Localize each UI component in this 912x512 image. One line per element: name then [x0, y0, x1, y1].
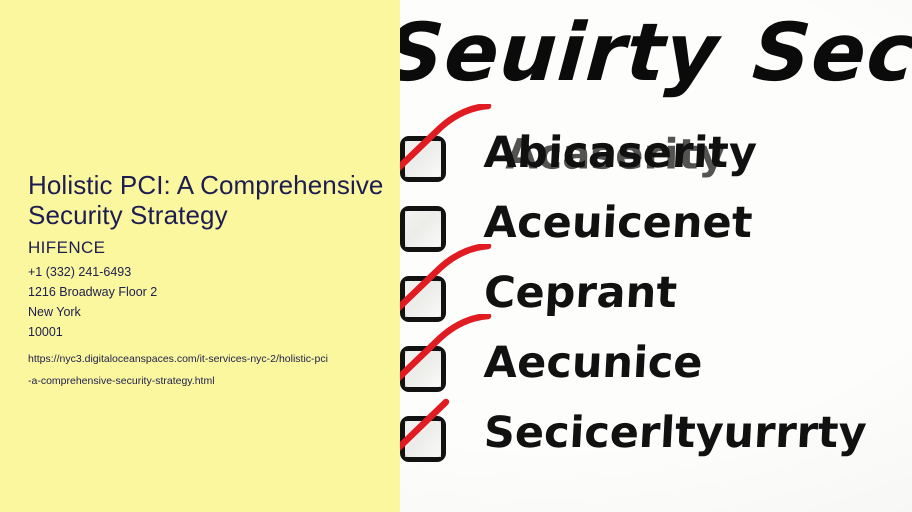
info-panel-content: Holistic PCI: A Comprehensive Security S… — [28, 170, 386, 392]
brand-name: HIFENCE — [28, 238, 386, 258]
source-url-line-1: https://nyc3.digitaloceanspaces.com/it-s… — [28, 348, 386, 370]
source-url-line-2: -a-comprehensive-security-strategy.html — [28, 370, 386, 392]
checkbox-fill — [405, 141, 441, 177]
info-panel: Holistic PCI: A Comprehensive Security S… — [0, 0, 400, 512]
address-zip: 10001 — [28, 322, 386, 342]
checkbox-2[interactable] — [400, 206, 446, 252]
checklist-label-4: Aecunice — [483, 338, 704, 388]
checkbox-fill — [405, 351, 441, 387]
checklist: Abicaserity Acaserity Aceuicenet — [398, 128, 912, 478]
checklist-label-3: Ceprant — [483, 268, 679, 318]
heading-word-2: Secity — [750, 6, 912, 99]
label-text: Aecunice — [483, 338, 704, 388]
heading-word-1: Seuirty — [383, 6, 723, 99]
phone-number: +1 (332) 241-6493 — [28, 262, 386, 282]
checklist-item[interactable]: Abicaserity Acaserity — [398, 128, 912, 198]
address-city: New York — [28, 302, 386, 322]
checklist-item[interactable]: Aecunice — [398, 338, 912, 408]
checklist-label-1: Abicaserity Acaserity — [483, 128, 758, 178]
label-text: Secicerltyurrrty — [483, 408, 868, 458]
checklist-label-2: Aceuicenet — [483, 198, 754, 248]
checklist-item[interactable]: Secicerltyurrrty — [398, 408, 912, 478]
page-root: SeuirtySecity Abicaserity Acaserity — [0, 0, 912, 512]
illustration-heading: SeuirtySecity — [383, 6, 912, 99]
checkbox-5[interactable] — [400, 416, 446, 462]
page-title: Holistic PCI: A Comprehensive Security S… — [28, 170, 386, 230]
checkbox-1[interactable] — [400, 136, 446, 182]
checkbox-fill — [405, 421, 441, 457]
checkbox-4[interactable] — [400, 346, 446, 392]
label-text: Aceuicenet — [483, 198, 754, 248]
address-street: 1216 Broadway Floor 2 — [28, 282, 386, 302]
label-text: Ceprant — [483, 268, 679, 318]
checkbox-fill — [405, 211, 441, 247]
checkbox-fill — [405, 281, 441, 317]
checklist-item[interactable]: Aceuicenet — [398, 198, 912, 268]
checklist-item[interactable]: Ceprant — [398, 268, 912, 338]
label-ghost-artifact: Acaserity — [505, 131, 726, 180]
source-url: https://nyc3.digitaloceanspaces.com/it-s… — [28, 348, 386, 392]
checkbox-3[interactable] — [400, 276, 446, 322]
checklist-label-5: Secicerltyurrrty — [483, 408, 868, 458]
